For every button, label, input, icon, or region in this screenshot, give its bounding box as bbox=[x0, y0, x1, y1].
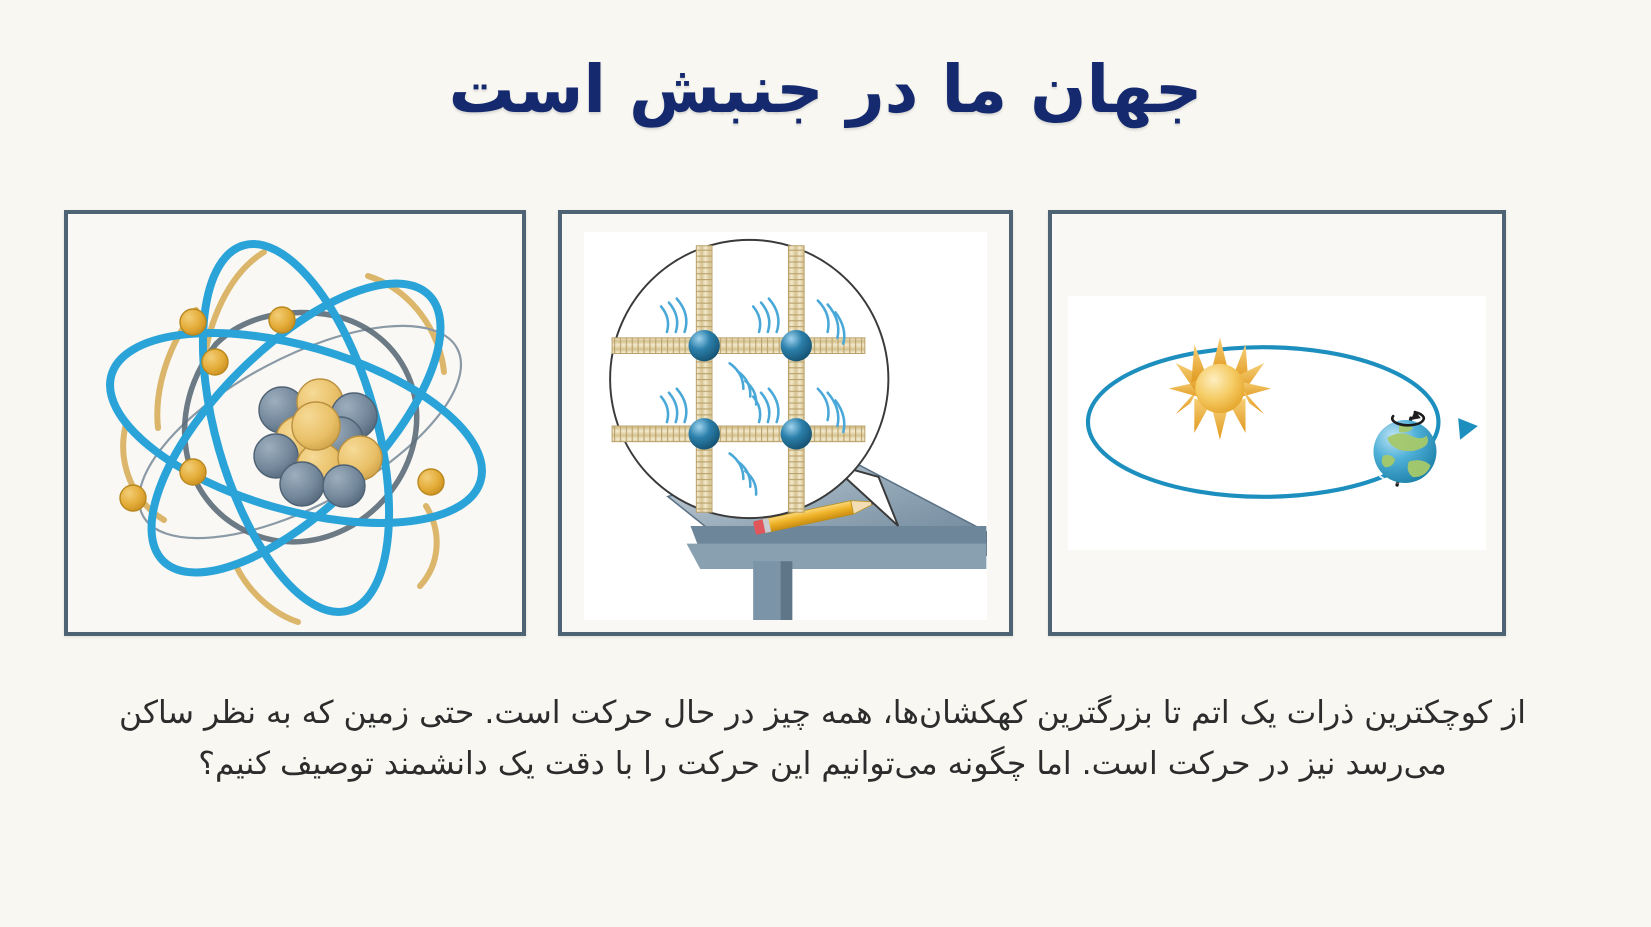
sun-icon bbox=[1169, 337, 1271, 439]
orbit-image-area bbox=[1068, 296, 1486, 550]
atom-nucleus bbox=[254, 379, 382, 507]
orbit-direction-arrow bbox=[1458, 418, 1478, 440]
slide-root: جهان ما در جنبش است bbox=[0, 0, 1651, 927]
body-line-1: از کوچکترین ذرات یک اتم تا بزرگترین کهکش… bbox=[95, 688, 1550, 739]
page-title: جهان ما در جنبش است bbox=[0, 52, 1651, 128]
atom-illustration bbox=[68, 214, 522, 632]
body-paragraph: از کوچکترین ذرات یک اتم تا بزرگترین کهکش… bbox=[95, 688, 1550, 790]
earth-icon bbox=[1373, 410, 1436, 485]
panel-row bbox=[0, 210, 1651, 640]
lattice-image-area bbox=[584, 232, 987, 620]
panel-atom[interactable] bbox=[64, 210, 526, 636]
panel-orbit[interactable] bbox=[1048, 210, 1506, 636]
panel-lattice[interactable] bbox=[558, 210, 1013, 636]
crystal-lattice-callout bbox=[584, 232, 987, 620]
body-line-2: می‌رسد نیز در حرکت است. اما چگونه می‌توا… bbox=[95, 739, 1550, 790]
earth-orbit-illustration bbox=[1068, 296, 1486, 550]
